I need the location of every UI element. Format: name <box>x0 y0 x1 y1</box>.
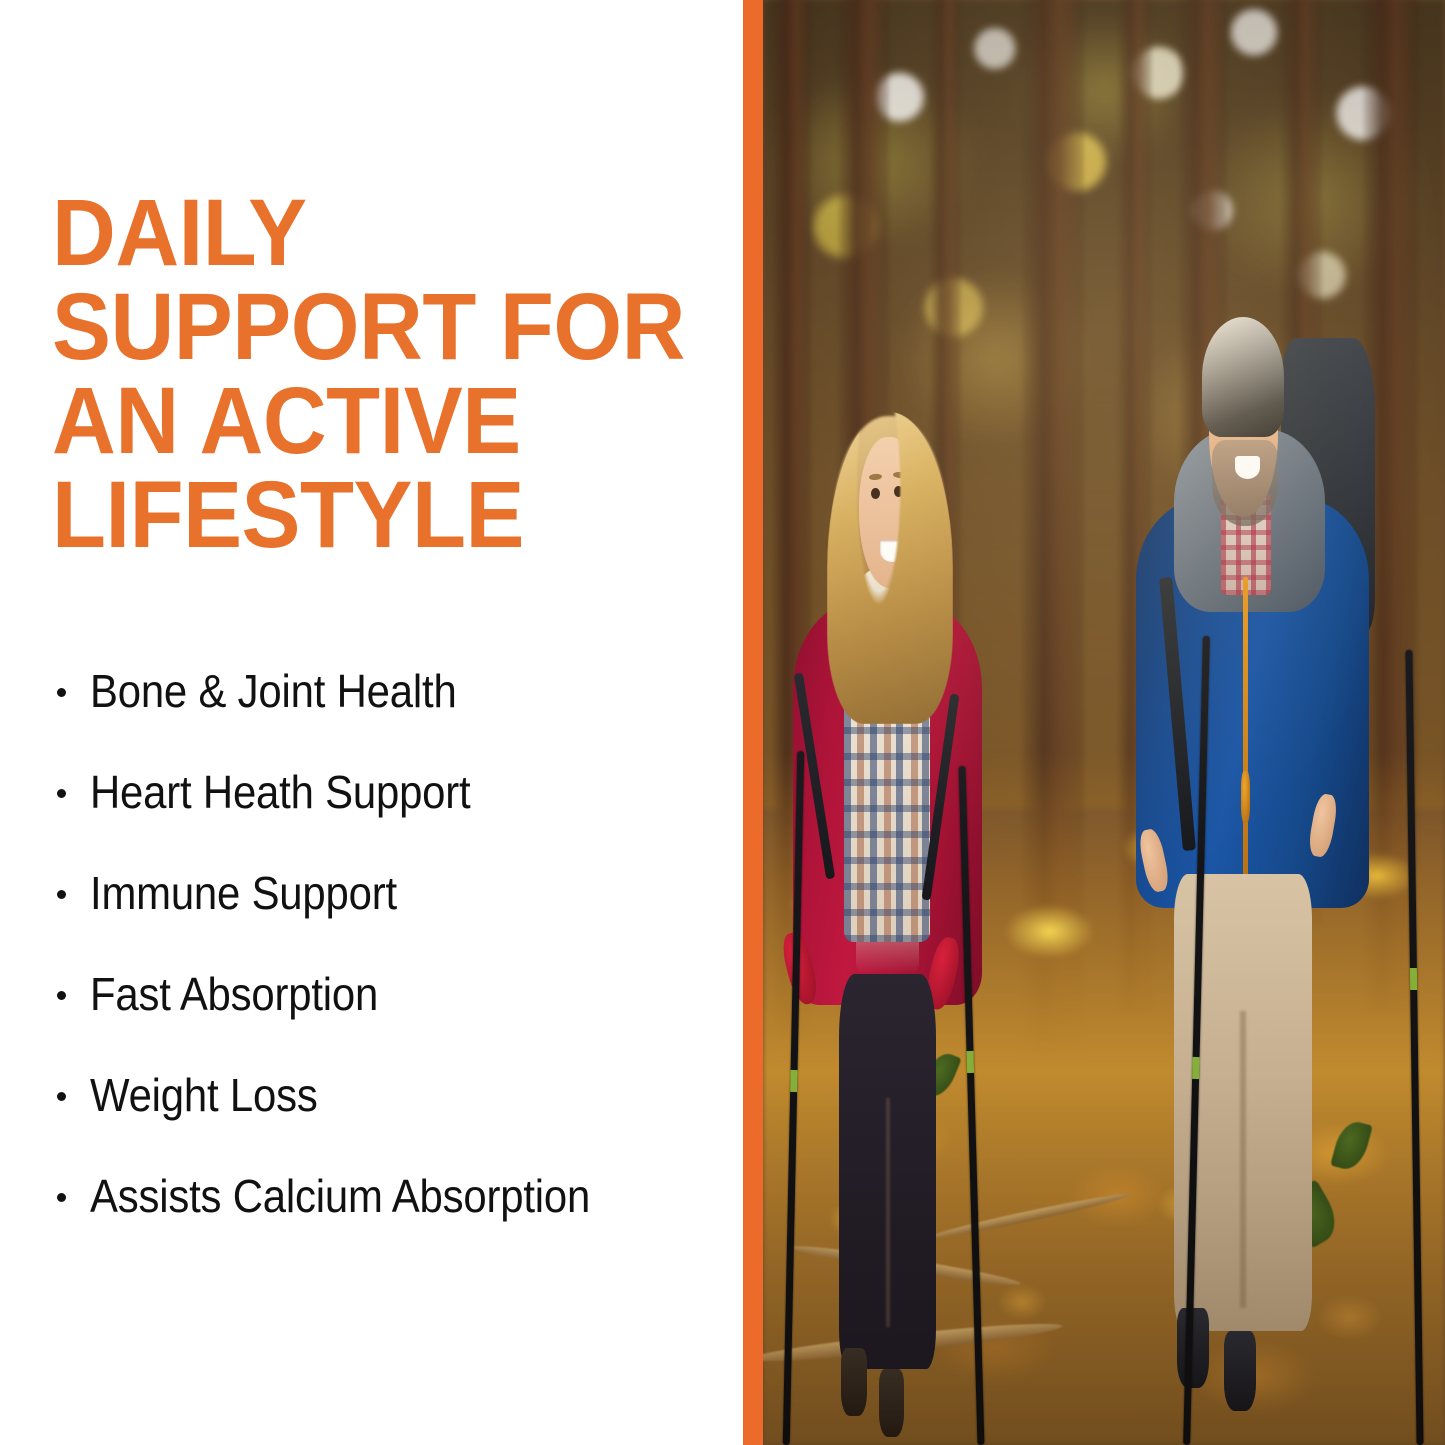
stubble-beard <box>1212 440 1278 526</box>
benefit-label: Heart Heath Support <box>90 765 470 819</box>
hiking-boot <box>841 1348 867 1416</box>
promo-banner: DAILY SUPPORT FOR AN ACTIVE LIFESTYLE Bo… <box>0 0 1445 1445</box>
photo-stage <box>763 0 1445 1445</box>
man-hiker <box>1118 303 1432 1445</box>
list-item: Heart Heath Support <box>52 741 742 842</box>
woman-hiker <box>770 412 1056 1445</box>
list-item: Assists Calcium Absorption <box>52 1145 742 1246</box>
page-title: DAILY SUPPORT FOR AN ACTIVE LIFESTYLE <box>52 186 684 562</box>
benefit-label: Weight Loss <box>90 1068 318 1122</box>
benefits-list: Bone & Joint Health Heart Heath Support … <box>52 640 742 1246</box>
orange-zipper <box>1243 577 1248 897</box>
orange-zipper-pull <box>1241 771 1250 822</box>
vertical-orange-rule <box>743 0 763 1445</box>
list-item: Weight Loss <box>52 1044 742 1145</box>
benefit-label: Fast Absorption <box>90 967 378 1021</box>
headline-line-2: SUPPORT FOR <box>52 280 684 374</box>
hair-front <box>827 412 953 724</box>
list-item: Bone & Joint Health <box>52 640 742 741</box>
headline-line-1: DAILY <box>52 186 684 280</box>
dot-bullet-icon <box>57 789 66 798</box>
hiking-boot <box>879 1369 905 1437</box>
grey-hair <box>1202 317 1284 437</box>
dot-bullet-icon <box>57 1092 66 1101</box>
benefit-label: Bone & Joint Health <box>90 664 457 718</box>
headline-line-4: LIFESTYLE <box>52 468 684 562</box>
hiking-boot <box>1224 1331 1255 1411</box>
benefit-label: Assists Calcium Absorption <box>90 1169 590 1223</box>
lifestyle-photo <box>763 0 1445 1445</box>
list-item: Fast Absorption <box>52 943 742 1044</box>
leg-gap <box>1240 1011 1246 1308</box>
dot-bullet-icon <box>57 991 66 1000</box>
headline-line-3: AN ACTIVE <box>52 374 684 468</box>
dot-bullet-icon <box>57 890 66 899</box>
dot-bullet-icon <box>57 688 66 697</box>
list-item: Immune Support <box>52 842 742 943</box>
dot-bullet-icon <box>57 1193 66 1202</box>
benefit-label: Immune Support <box>90 866 397 920</box>
leg-gap <box>886 1098 891 1327</box>
text-panel: DAILY SUPPORT FOR AN ACTIVE LIFESTYLE Bo… <box>0 0 743 1445</box>
